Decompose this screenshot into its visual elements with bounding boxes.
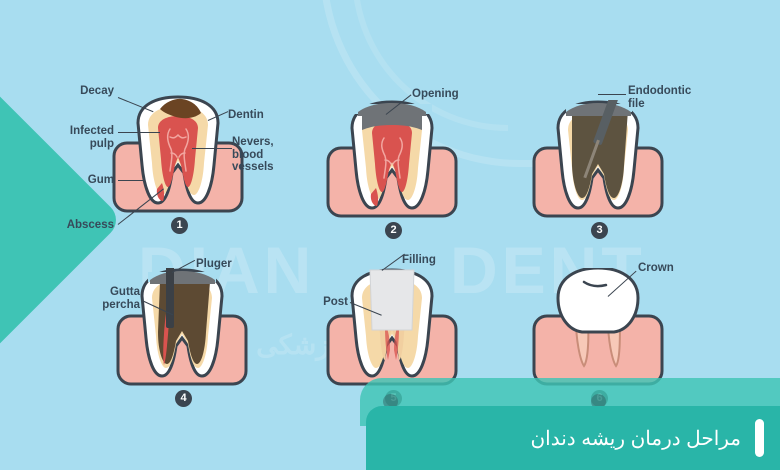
label-crown: Crown [638, 262, 696, 275]
label-gutta-percha: Gutta percha [88, 286, 140, 311]
leader-nerves [192, 148, 232, 149]
leader-infected-pulp [118, 132, 160, 133]
label-infected-pulp: Infected pulp [48, 125, 114, 150]
step-badge: 1 [171, 217, 188, 234]
label-post: Post [308, 296, 348, 309]
label-nerves-blood-vessels: Nevers, blood vessels [232, 136, 288, 174]
label-dentin: Dentin [228, 109, 288, 122]
label-endodontic-file: Endodontic file [628, 85, 704, 110]
label-decay: Decay [58, 85, 114, 98]
label-filling: Filling [402, 254, 460, 267]
leader-endodontic-file [598, 94, 626, 95]
label-pluger: Pluger [196, 258, 256, 271]
step-badge: 3 [591, 222, 608, 239]
banner-accent-bar [755, 419, 764, 457]
step-badge: 4 [175, 390, 192, 407]
banner-title: مراحل درمان ریشه دندان [530, 426, 741, 451]
step-badge: 2 [385, 222, 402, 239]
label-gum: Gum [64, 174, 114, 187]
step-1-illustration: 1 [108, 95, 248, 220]
root-canal-infographic: DIAN DENT دندانپزشکی شبانه روزی [0, 0, 780, 470]
title-banner: مراحل درمان ریشه دندان [366, 406, 780, 470]
label-abscess: Abscess [44, 219, 114, 232]
leader-gum [118, 180, 144, 181]
step-2-illustration: 2 [322, 100, 462, 225]
step-3-illustration: 3 [528, 100, 668, 225]
step-5-illustration: 5 [322, 268, 462, 393]
step-6-illustration: 6 [528, 268, 668, 393]
label-opening: Opening [412, 88, 482, 101]
